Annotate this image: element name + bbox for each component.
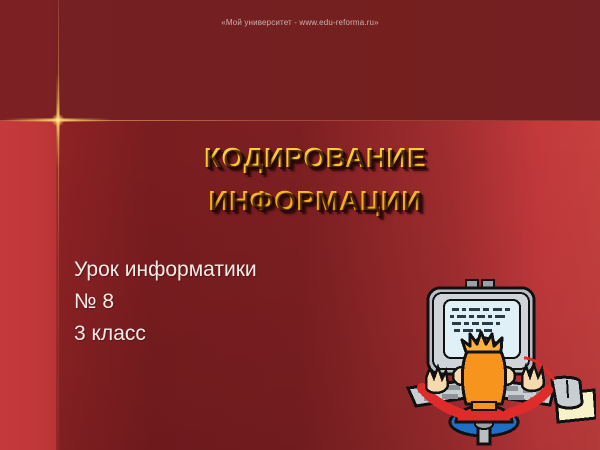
lesson-number-line: № 8 [74,286,257,318]
lesson-subject-line: Урок информатики [74,254,257,286]
slide-background-left-stripe [0,121,56,450]
gold-star-sparkle-icon [58,120,59,121]
lesson-grade-line: 3 класс [74,318,257,350]
vertical-accent-line [58,0,59,450]
presentation-slide: «Мой университет - www.edu-reforma.ru» К… [0,0,600,450]
slide-title-line-2: ИНФОРМАЦИИ [60,179,570,222]
slide-title-line-1: КОДИРОВАНИЕ [60,136,570,179]
slide-title: КОДИРОВАНИЕ ИНФОРМАЦИИ [60,136,570,222]
slide-subtitle-block: Урок информатики № 8 3 класс [74,254,257,350]
boy-at-computer-illustration [404,272,596,450]
sparkle-core [52,114,65,127]
credit-line: «Мой университет - www.edu-reforma.ru» [0,18,600,27]
